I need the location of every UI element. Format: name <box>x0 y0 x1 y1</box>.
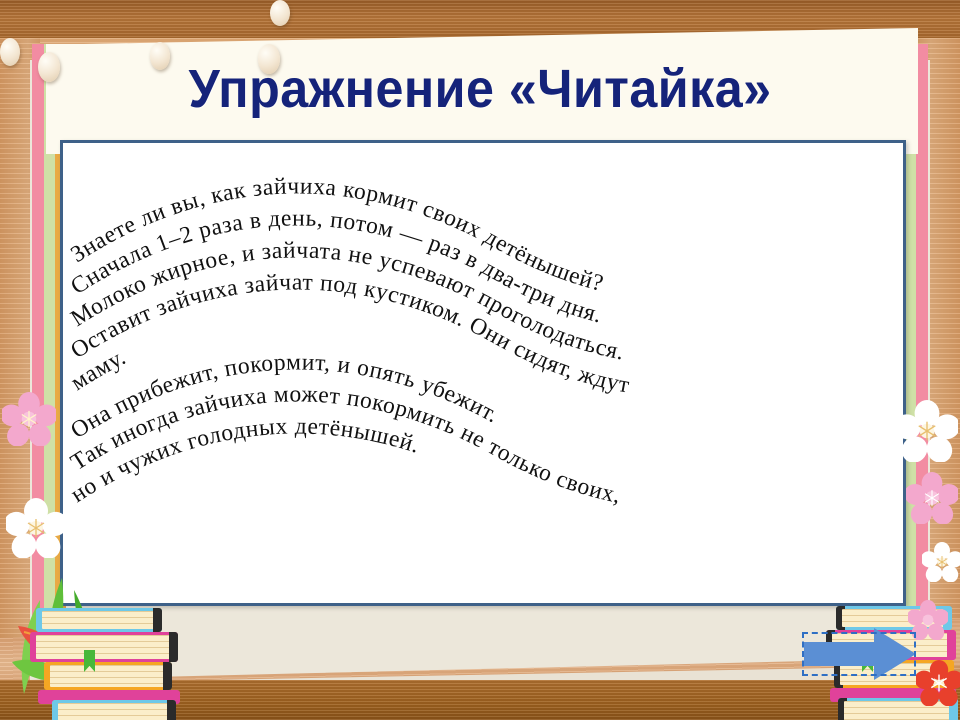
sakura-pink-right-icon <box>906 472 958 524</box>
book-pages <box>42 611 156 629</box>
book-edge <box>163 662 172 690</box>
sakura-red-right-icon <box>916 660 960 706</box>
book-edge <box>947 630 956 660</box>
book-cyan <box>36 608 162 632</box>
book-edge <box>153 608 162 632</box>
bead-top-1 <box>0 38 20 66</box>
sakura-white-left-icon <box>6 498 66 558</box>
book-pages <box>50 665 166 687</box>
book-magenta <box>30 632 178 662</box>
selection-outline[interactable] <box>802 632 916 676</box>
wavy-text-svg: Знаете ли вы, как зайчиха кормит своих д… <box>63 143 903 603</box>
book-edge <box>169 632 178 662</box>
slide-canvas: Упражнение «Читайка» Знаете ли вы, как з… <box>0 0 960 720</box>
book-cyan-2 <box>52 700 176 720</box>
content-panel: Знаете ли вы, как зайчиха кормит своих д… <box>60 140 906 606</box>
book-pages <box>58 703 170 720</box>
wavy-text-block: Знаете ли вы, как зайчиха кормит своих д… <box>63 143 903 603</box>
book-edge <box>167 700 176 720</box>
book-pages <box>36 635 172 659</box>
sakura-pink-left-icon <box>2 392 56 446</box>
book-orange <box>44 662 172 690</box>
bead-top-5 <box>270 0 290 26</box>
page-title: Упражнение «Читайка» <box>34 58 927 120</box>
blue-right-arrow[interactable] <box>802 624 920 686</box>
book-stack-left <box>30 608 190 720</box>
sakura-white-right-icon <box>896 400 958 462</box>
sakura-white-right-2-icon <box>922 542 960 582</box>
